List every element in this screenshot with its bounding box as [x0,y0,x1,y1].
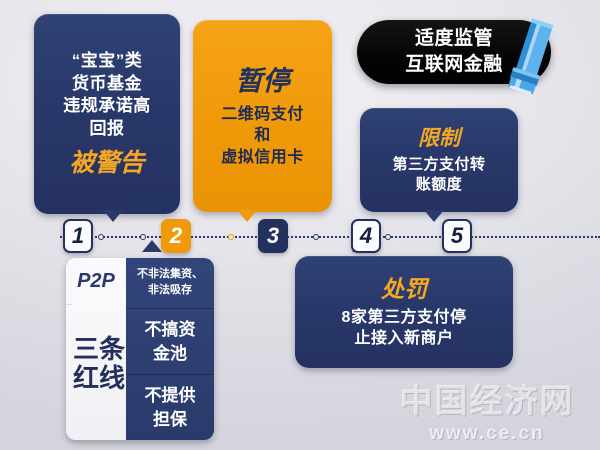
p2p-rule-row: 不提供 担保 [126,375,214,440]
p2p-rule-1-line-2: 非法吸存 [137,283,203,299]
timeline-marker-1[interactable]: 1 [63,219,93,253]
card-limit-transfer-quota[interactable]: 限制 第三方支付转 账额度 [360,108,518,212]
connector-arrow-down-2 [237,210,257,222]
card4-highlight: 限制 [418,125,460,153]
timeline-marker-2-label: 2 [170,223,182,249]
infographic-canvas: “宝宝”类 货币基金 违规承诺高 回报 被警告 暂停 二维码支付 和 虚拟信用卡… [0,0,600,450]
watermark-url: www.ce.cn [429,423,545,445]
timeline-marker-3-label: 3 [267,223,279,249]
card2-highlight: 暂停 [236,64,290,100]
p2p-rule-2-line-2: 金池 [145,342,196,366]
timeline-axis [60,236,600,238]
card1-line-3: 违规承诺高 [63,95,151,118]
timeline-marker-2[interactable]: 2 [161,219,191,253]
timeline-tick [313,234,319,240]
card3-line-2: 互联网金融 [405,52,503,78]
clothespin-clip-icon [500,16,562,100]
p2p-rule-row: 不搞资 金池 [126,309,214,375]
card1-line-1: “宝宝”类 [72,50,143,73]
card-warning-money-fund[interactable]: “宝宝”类 货币基金 违规承诺高 回报 被警告 [34,14,180,214]
connector-arrow-up-1 [142,240,162,252]
card1-highlight: 被警告 [69,147,144,180]
timeline-marker-4-label: 4 [360,223,372,249]
timeline-marker-5[interactable]: 5 [442,219,472,253]
card1-line-4: 回报 [90,118,125,141]
p2p-rule-1-line-1: 不非法集资、 [137,267,203,283]
card6-line-2: 止接入新商户 [354,328,453,349]
timeline-tick [385,234,391,240]
timeline-marker-4[interactable]: 4 [351,219,381,253]
p2p-rule-3-line-2: 担保 [145,408,196,432]
p2p-rule-3-line-1: 不提供 [145,384,196,408]
card2-line-2: 和 [254,125,271,146]
card2-line-1: 二维码支付 [221,104,304,125]
card-suspend-qr-payment[interactable]: 暂停 二维码支付 和 虚拟信用卡 [193,20,332,212]
p2p-vertical-label-overlay: 三条红线 [72,290,126,438]
watermark-site-name: 中国经济网 [400,374,575,422]
timeline-tick [228,234,234,240]
timeline-marker-3[interactable]: 3 [258,219,288,253]
timeline-marker-5-label: 5 [451,223,463,249]
card2-line-3: 虚拟信用卡 [221,147,304,168]
card1-line-2: 货币基金 [72,73,142,96]
card-punishment[interactable]: 处罚 8家第三方支付停 止接入新商户 [295,256,513,368]
timeline-tick [98,234,104,240]
card4-line-1: 第三方支付转 [392,155,485,175]
connector-arrow-down-3 [424,210,444,222]
timeline-marker-1-label: 1 [72,223,84,249]
card6-line-1: 8家第三方支付停 [342,307,467,328]
watermark: 中国经济网 www.ce.cn [387,378,587,440]
card4-line-2: 账额度 [416,175,463,195]
p2p-rule-2-line-1: 不搞资 [145,318,196,342]
connector-arrow-down-1 [103,210,123,222]
p2p-rule-row: 不非法集资、 非法吸存 [126,258,214,309]
card6-highlight: 处罚 [381,274,427,305]
p2p-right-column: 不非法集资、 非法吸存 不搞资 金池 不提供 担保 [126,258,214,440]
card3-line-1: 适度监管 [415,26,493,52]
